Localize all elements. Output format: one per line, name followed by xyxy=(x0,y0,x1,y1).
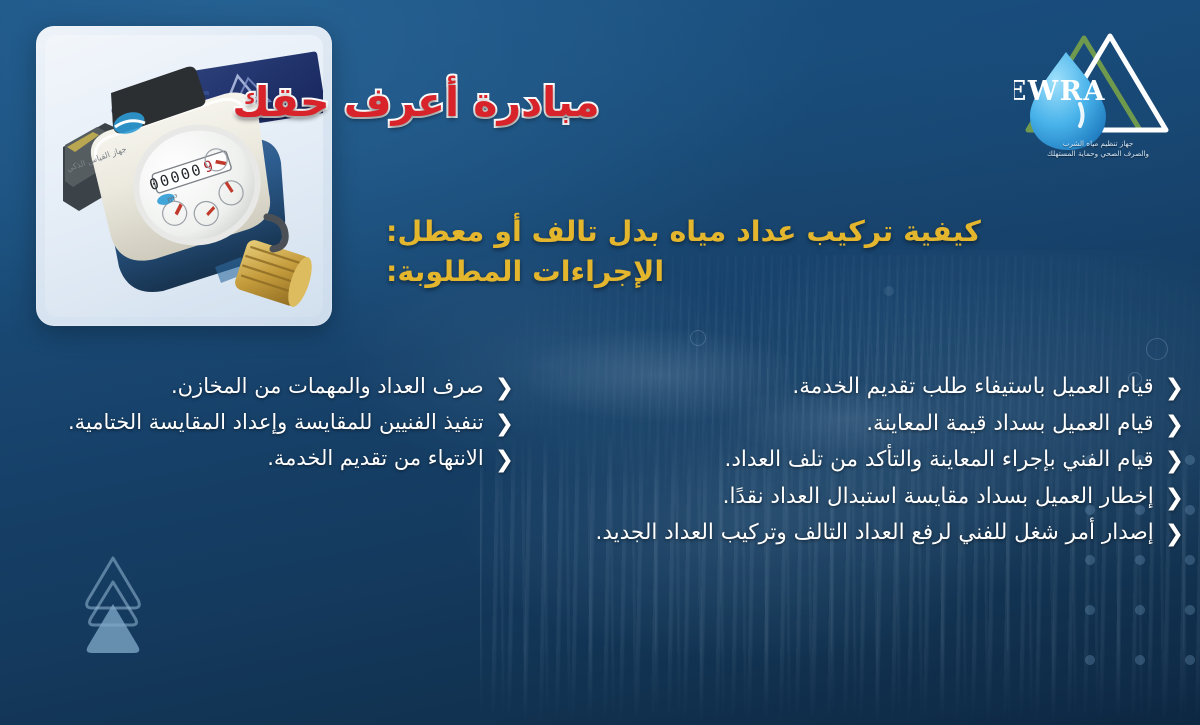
list-item-label: قيام العميل باستيفاء طلب تقديم الخدمة. xyxy=(584,372,1154,403)
bubble-icon xyxy=(690,330,706,346)
ewra-wordmark: EWRA xyxy=(1014,76,1106,107)
ewra-logo-subtitle: جهاز تنظيم مياه الشرب والصرف الصحي وحماي… xyxy=(1014,139,1182,158)
ewra-subtitle-line-2: والصرف الصحي وحماية المستهلك xyxy=(1014,149,1182,159)
page-heading: كيفية تركيب عداد مياه بدل تالف أو معطل: … xyxy=(386,212,1166,293)
list-item: ❮ قيام الفني بإجراء المعاينة والتأكد من … xyxy=(584,445,1184,476)
list-item: ❮ تنفيذ الفنيين للمقايسة وإعداد المقايسة… xyxy=(44,408,514,438)
list-item: ❮ إخطار العميل بسداد مقايسة استبدال العد… xyxy=(584,482,1184,513)
chevron-left-icon: ❮ xyxy=(495,449,514,472)
list-item-label: إخطار العميل بسداد مقايسة استبدال العداد… xyxy=(584,482,1154,513)
list-item: ❮ إصدار أمر شغل للفني لرفع العداد التالف… xyxy=(584,518,1184,549)
list-item-label: قيام الفني بإجراء المعاينة والتأكد من تل… xyxy=(584,445,1154,476)
list-item-label: صرف العداد والمهمات من المخازن. xyxy=(44,372,484,402)
triangle-stack-icon xyxy=(78,552,148,657)
steps-column-right: ❮ قيام العميل باستيفاء طلب تقديم الخدمة.… xyxy=(584,372,1184,555)
water-meter-photo-panel: 88286 xyxy=(36,26,332,326)
chevron-left-icon: ❮ xyxy=(495,413,514,436)
list-item: ❮ صرف العداد والمهمات من المخازن. xyxy=(44,372,514,402)
campaign-title: مبادرة أعرف حقك xyxy=(0,78,832,126)
chevron-left-icon: ❮ xyxy=(495,377,514,400)
steps-column-left: ❮ صرف العداد والمهمات من المخازن. ❮ تنفي… xyxy=(44,372,514,479)
ewra-subtitle-line-1: جهاز تنظيم مياه الشرب xyxy=(1014,139,1182,149)
list-item-label: تنفيذ الفنيين للمقايسة وإعداد المقايسة ا… xyxy=(44,408,484,438)
list-item-label: إصدار أمر شغل للفني لرفع العداد التالف و… xyxy=(584,518,1154,549)
chevron-left-icon: ❮ xyxy=(1165,377,1184,400)
list-item: ❮ قيام العميل بسداد قيمة المعاينة. xyxy=(584,409,1184,440)
chevron-left-icon: ❮ xyxy=(1165,450,1184,473)
chevron-left-icon: ❮ xyxy=(1165,414,1184,437)
list-item-label: الانتهاء من تقديم الخدمة. xyxy=(44,444,484,474)
heading-line-2: الإجراءات المطلوبة: xyxy=(386,252,1166,292)
bubble-icon xyxy=(1146,338,1168,360)
chevron-left-icon: ❮ xyxy=(1165,487,1184,510)
poster-canvas: 88286 xyxy=(0,0,1200,725)
list-item: ❮ قيام العميل باستيفاء طلب تقديم الخدمة. xyxy=(584,372,1184,403)
chevron-left-icon: ❮ xyxy=(1165,523,1184,546)
list-item-label: قيام العميل بسداد قيمة المعاينة. xyxy=(584,409,1154,440)
list-item: ❮ الانتهاء من تقديم الخدمة. xyxy=(44,444,514,474)
heading-line-1: كيفية تركيب عداد مياه بدل تالف أو معطل: xyxy=(386,215,981,248)
